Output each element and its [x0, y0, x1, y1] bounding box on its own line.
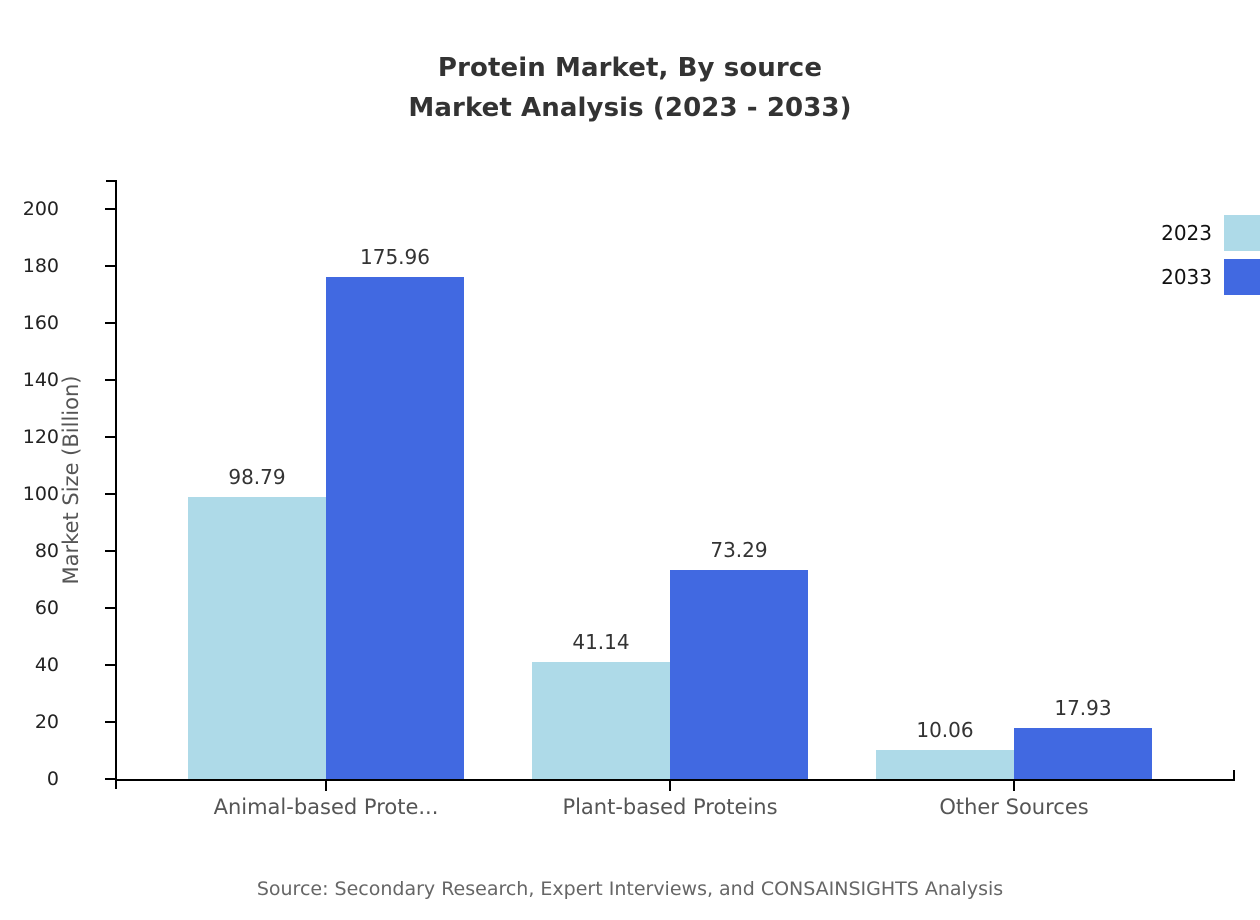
y-tick-label: 160: [0, 314, 59, 333]
chart-title-line-1: Protein Market, By source: [0, 48, 1260, 88]
y-tick-label: 180: [0, 257, 59, 276]
x-tick-label: Plant-based Proteins: [490, 794, 850, 820]
y-tick-mark: [105, 664, 115, 666]
x-tick-mark: [1013, 781, 1015, 791]
y-axis-title: Market Size (Billion): [59, 270, 83, 690]
y-tick-mark: [105, 322, 115, 324]
legend-swatch: [1224, 215, 1260, 251]
x-axis-left-cap: [115, 779, 117, 789]
y-tick-mark: [105, 493, 115, 495]
chart-subtitle-line-2: Market Analysis (2023 - 2033): [0, 88, 1260, 128]
y-tick-mark: [105, 778, 115, 780]
y-tick-label: 60: [0, 599, 59, 618]
x-tick-mark: [669, 781, 671, 791]
y-tick-mark: [105, 436, 115, 438]
bar-value-label: 175.96: [295, 247, 495, 267]
x-tick-label: Other Sources: [834, 794, 1194, 820]
bar-value-label: 17.93: [983, 698, 1183, 718]
bar-value-label: 73.29: [639, 540, 839, 560]
y-tick-mark: [105, 265, 115, 267]
bar-2023-1[interactable]: [532, 662, 670, 779]
legend-item-2023[interactable]: 2023: [1100, 215, 1260, 251]
bar-2033-0[interactable]: [326, 277, 464, 779]
bar-2023-0[interactable]: [188, 497, 326, 779]
x-tick-mark: [325, 781, 327, 791]
bar-2023-2[interactable]: [876, 750, 1014, 779]
y-tick-mark: [105, 721, 115, 723]
y-tick-label: 140: [0, 371, 59, 390]
y-tick-mark: [105, 379, 115, 381]
bar-2033-1[interactable]: [670, 570, 808, 779]
y-axis-spine: [115, 180, 117, 781]
y-tick-label: 20: [0, 713, 59, 732]
y-tick-label: 80: [0, 542, 59, 561]
y-tick-label: 0: [0, 770, 59, 789]
x-axis-spine: [115, 779, 1235, 781]
y-tick-label: 100: [0, 485, 59, 504]
legend-item-2033[interactable]: 2033: [1100, 259, 1260, 295]
plot-area: Market Size (Billion) 020406080100120140…: [115, 180, 1235, 781]
chart-legend: 20232033: [1100, 215, 1260, 315]
chart-title: Protein Market, By source Market Analysi…: [0, 48, 1260, 128]
x-tick-label: Animal-based Prote...: [146, 794, 506, 820]
y-tick-label: 200: [0, 200, 59, 219]
y-tick-mark: [105, 208, 115, 210]
y-tick-label: 120: [0, 428, 59, 447]
y-axis-top-cap: [106, 180, 117, 182]
chart-page: Protein Market, By source Market Analysi…: [0, 0, 1260, 920]
y-tick-mark: [105, 550, 115, 552]
y-tick-label: 40: [0, 656, 59, 675]
legend-label: 2033: [1100, 265, 1212, 289]
legend-swatch: [1224, 259, 1260, 295]
source-note: Source: Secondary Research, Expert Inter…: [0, 878, 1260, 900]
legend-label: 2023: [1100, 221, 1212, 245]
x-axis-right-cap: [1233, 770, 1235, 781]
y-tick-mark: [105, 607, 115, 609]
bar-2033-2[interactable]: [1014, 728, 1152, 779]
